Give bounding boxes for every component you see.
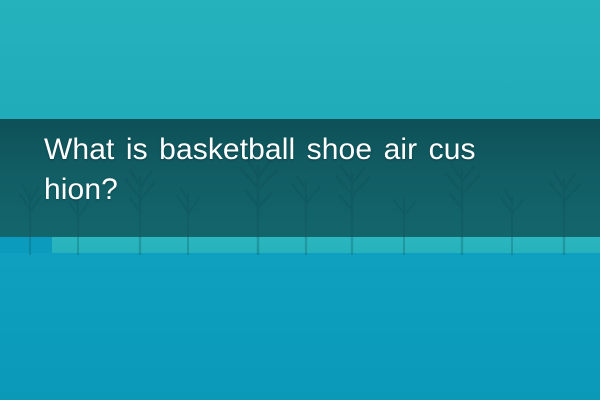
caption-title: What is basketball shoe air cus hion? [44, 130, 592, 210]
background-ground [0, 253, 600, 400]
thumbnail-image: What is basketball shoe air cus hion? [0, 0, 600, 400]
background-sky [0, 0, 600, 120]
